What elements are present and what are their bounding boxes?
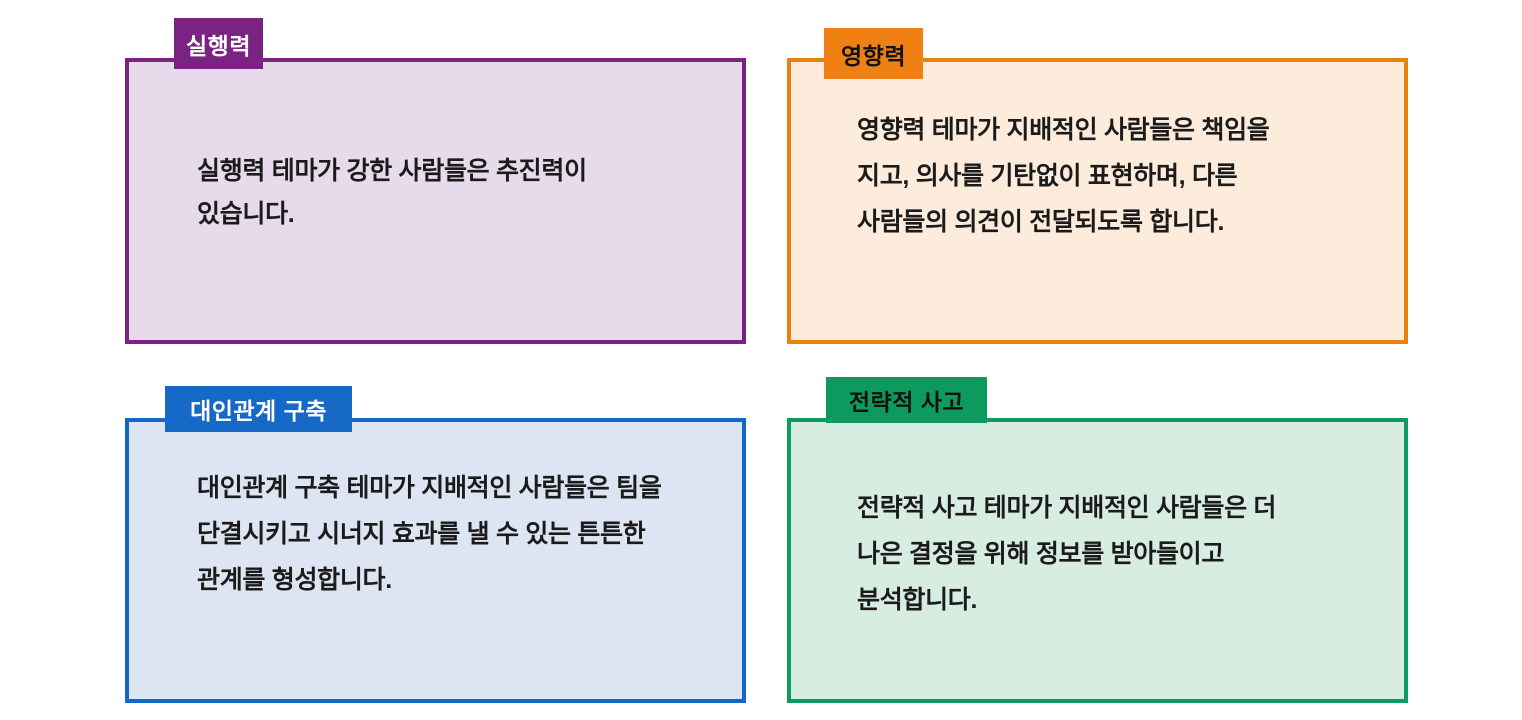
card-relationship-tab-text: 대인관계 구축	[190, 392, 327, 426]
card-execution-tab-text: 실행력	[186, 27, 251, 61]
card-influence-body-text: 영향력 테마가 지배적인 사람들은 책임을 지고, 의사를 기탄없이 표현하며,…	[857, 107, 1322, 245]
card-execution-body-text: 실행력 테마가 강한 사람들은 추진력이 있습니다.	[197, 150, 667, 236]
card-influence-tab-label: 영향력	[824, 28, 923, 79]
card-strategy-tab-label: 전략적 사고	[826, 377, 987, 423]
card-strategy-body-text: 전략적 사고 테마가 지배적인 사람들은 더 나은 결정을 위해 정보를 받아들…	[857, 485, 1322, 623]
card-influence-tab-text: 영향력	[841, 37, 906, 71]
card-relationship-body-text: 대인관계 구축 테마가 지배적인 사람들은 팀을 단결시키고 시너지 효과를 낼…	[197, 465, 662, 603]
card-relationship-tab-label: 대인관계 구축	[165, 386, 352, 432]
card-strategy-tab-text: 전략적 사고	[849, 383, 964, 417]
card-execution-tab-label: 실행력	[174, 18, 263, 69]
cards-canvas: 실행력 실행력 테마가 강한 사람들은 추진력이 있습니다. 영향력 영향력 테…	[0, 0, 1522, 720]
